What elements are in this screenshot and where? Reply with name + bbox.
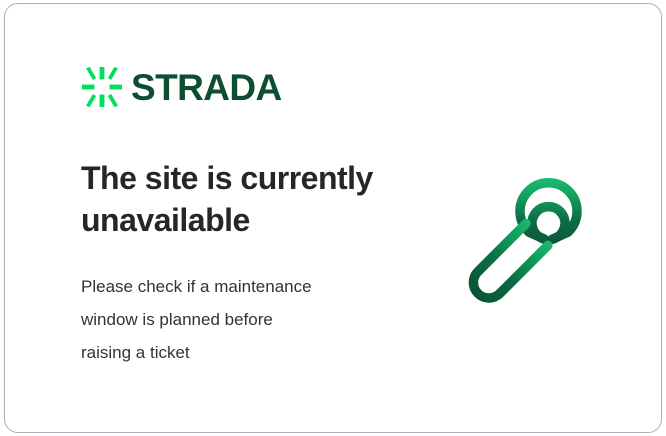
content-column: STRADA The site is currently unavailable…: [81, 64, 441, 369]
description-line: raising a ticket: [81, 336, 391, 369]
brand-wordmark: STRADA: [131, 69, 282, 106]
brand-logo: STRADA: [81, 64, 441, 110]
status-card: STRADA The site is currently unavailable…: [4, 3, 662, 433]
page-description: Please check if a maintenance window is …: [81, 270, 391, 369]
page-title: The site is currently unavailable: [81, 157, 411, 241]
strada-asterisk-mark-icon: [82, 67, 122, 107]
description-line: window is planned before: [81, 303, 391, 336]
wrench-illustration: [460, 159, 615, 314]
page-viewport: STRADA The site is currently unavailable…: [0, 0, 666, 436]
description-line: Please check if a maintenance: [81, 270, 391, 303]
